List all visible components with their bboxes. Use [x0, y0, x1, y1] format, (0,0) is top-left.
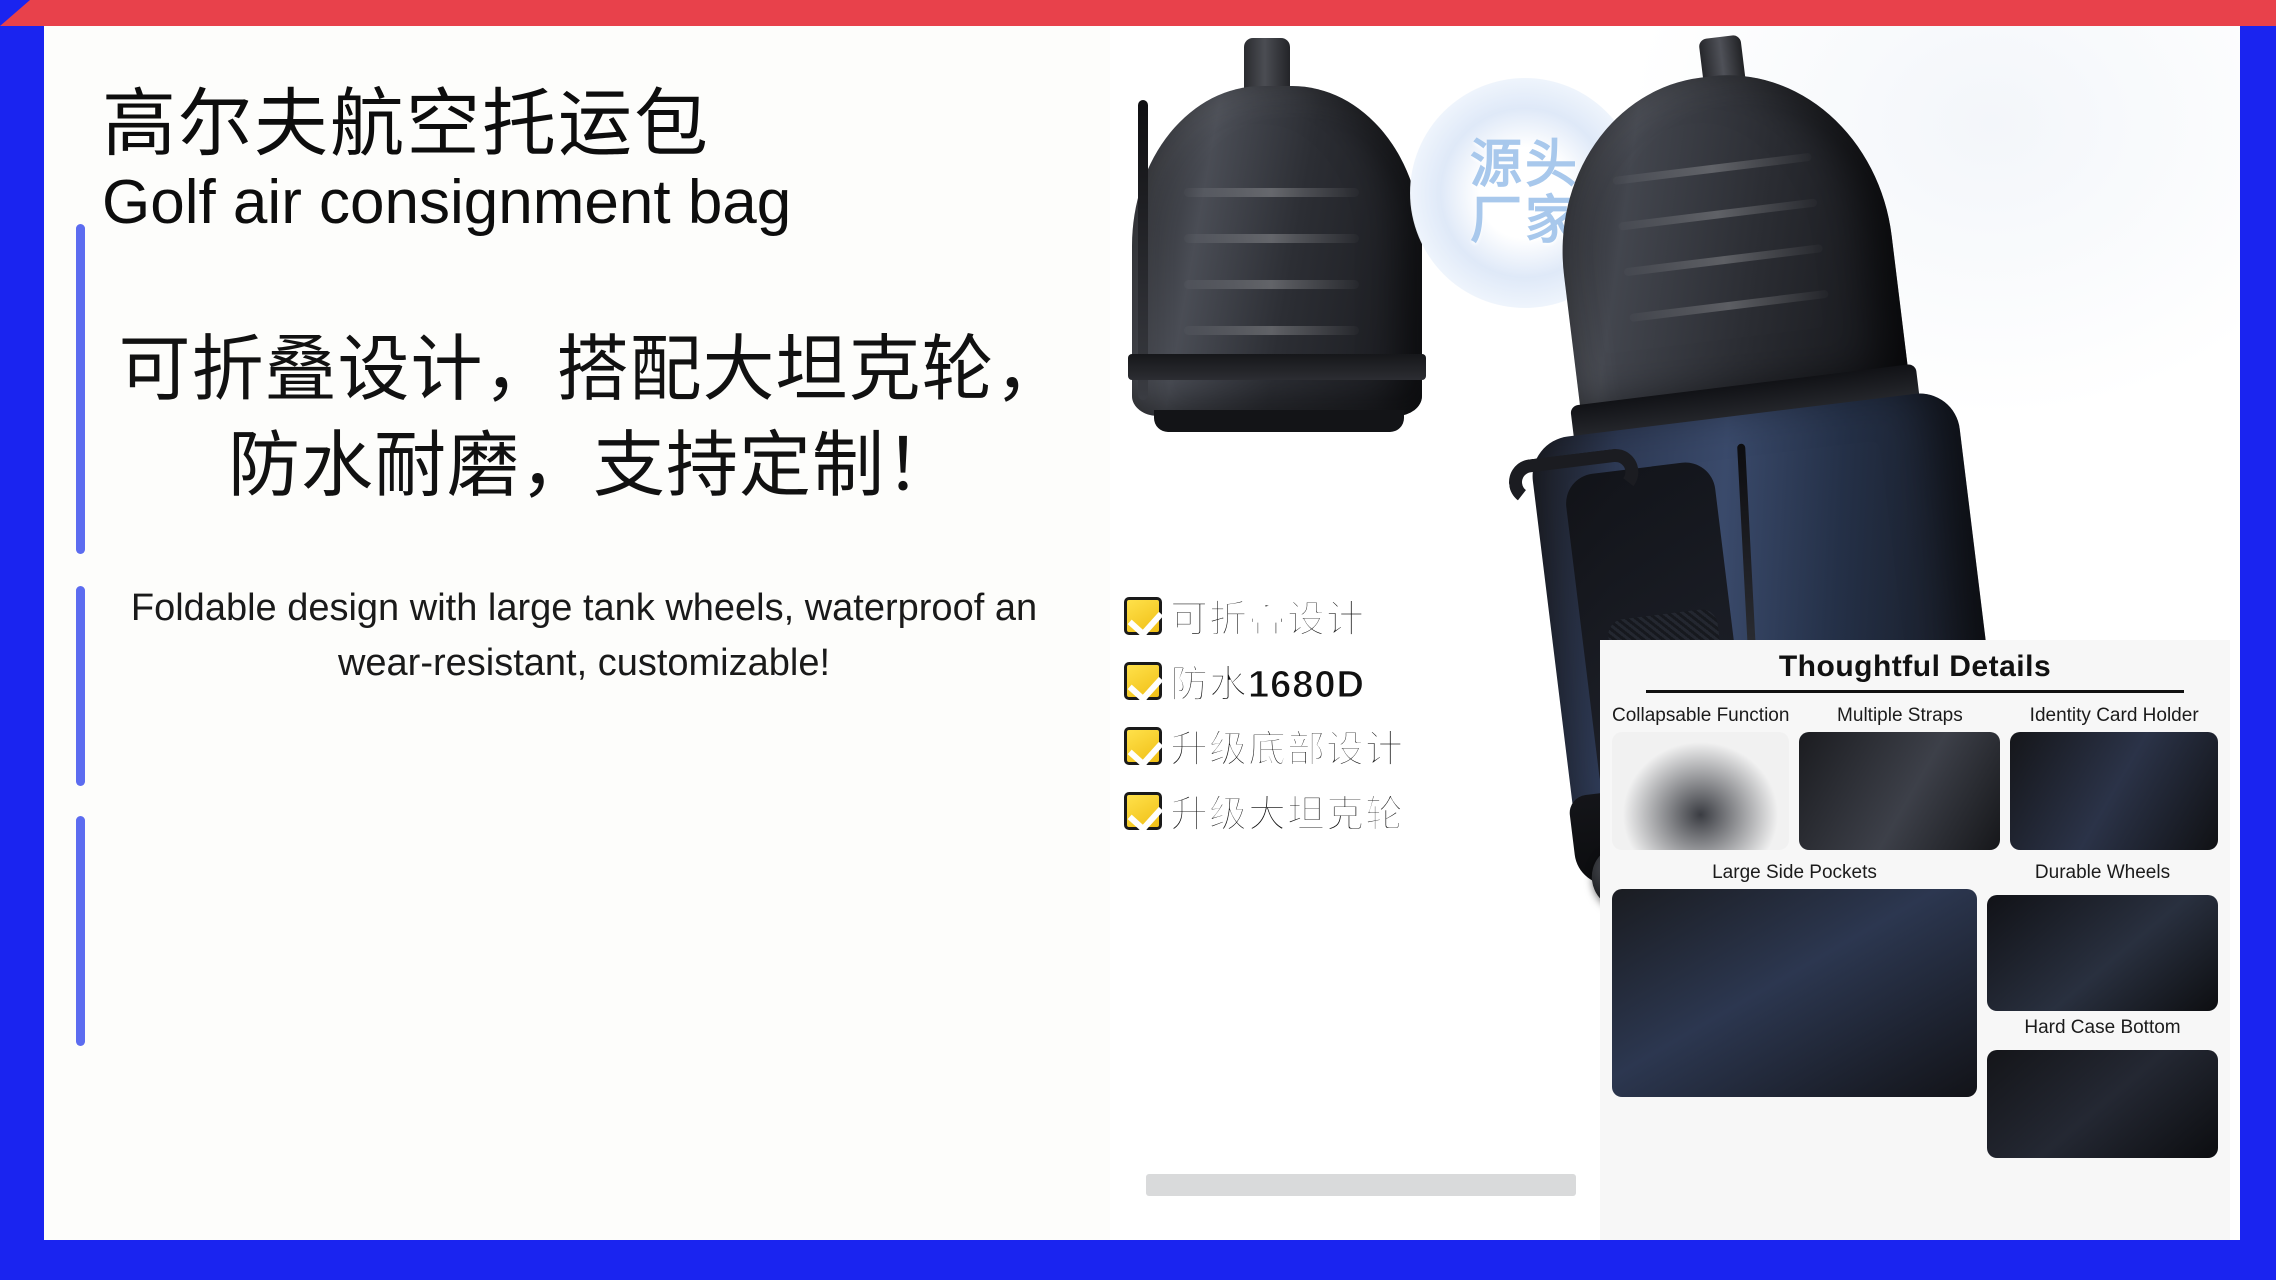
- detail-thumbnail: [1612, 889, 1977, 1097]
- checkbox-checked-icon: [1124, 727, 1162, 765]
- detail-label: Large Side Pockets: [1612, 862, 1977, 884]
- detail-cell-pockets: Large Side Pockets: [1612, 862, 1977, 1158]
- subcopy-block: Foldable design with large tank wheels, …: [104, 581, 1064, 692]
- checklist-item-label: 升级底部设计: [1170, 718, 1404, 773]
- details-card-title: Thoughtful Details: [1612, 650, 2218, 684]
- checkbox-checked-icon: [1124, 662, 1162, 700]
- checklist-item: 升级底部设计: [1124, 718, 1404, 773]
- case-rib: [1184, 326, 1359, 335]
- headline-block: 可折叠设计，搭配大坦克轮， 防水耐磨，支持定制！: [88, 322, 1098, 515]
- detail-thumbnail: [1799, 732, 2000, 850]
- product-banner: 高尔夫航空托运包 Golf air consignment bag 可折叠设计，…: [0, 0, 2276, 1280]
- detail-label: Multiple Straps: [1799, 705, 2000, 727]
- checkbox-checked-icon: [1124, 792, 1162, 830]
- red-top-band: [120, 0, 2276, 26]
- feature-checklist: 可折叠设计 防水1680D 升级底部设计 升级大坦克轮: [1124, 588, 1404, 848]
- detail-label: Identity Card Holder: [2010, 705, 2218, 727]
- headline-line-1: 可折叠设计，搭配大坦克轮，: [88, 322, 1098, 418]
- checklist-item: 升级大坦克轮: [1124, 783, 1404, 838]
- case-foot: [1154, 410, 1404, 432]
- checklist-item-label: 升级大坦克轮: [1170, 783, 1404, 838]
- checklist-item: 防水1680D: [1124, 653, 1404, 708]
- right-product-column: 源头 厂家: [1110, 26, 2240, 1240]
- subcopy-line-1: Foldable design with large tank wheels, …: [104, 581, 1064, 636]
- accent-rail-top: [76, 224, 85, 554]
- left-text-column: 高尔夫航空托运包 Golf air consignment bag 可折叠设计，…: [44, 26, 1224, 1240]
- checklist-item: 可折叠设计: [1124, 588, 1404, 643]
- details-divider: [1646, 690, 2184, 693]
- display-shelf: [1146, 1174, 1576, 1196]
- detail-cell-idcard: Identity Card Holder: [2010, 705, 2218, 850]
- case-rib: [1184, 280, 1359, 289]
- detail-cell-wheels-bottom: Durable Wheels Hard Case Bottom: [1987, 862, 2218, 1158]
- checklist-item-label: 可折叠设计: [1170, 588, 1365, 643]
- detail-label: Durable Wheels: [1987, 862, 2218, 884]
- thoughtful-details-card: Thoughtful Details Collapsable Function …: [1600, 640, 2230, 1240]
- checkbox-checked-icon: [1124, 597, 1162, 635]
- detail-label: Collapsable Function: [1612, 705, 1789, 727]
- details-top-row: Collapsable Function Multiple Straps Ide…: [1612, 705, 2218, 850]
- detail-thumbnail: [1612, 732, 1789, 850]
- case-strap: [1128, 354, 1426, 380]
- detail-thumbnail: [1987, 895, 2218, 1011]
- detail-thumbnail: [1987, 1050, 2218, 1158]
- frame-bottom-border: [0, 1240, 2276, 1280]
- checklist-item-label: 防水1680D: [1170, 653, 1365, 708]
- details-bottom-row: Large Side Pockets Durable Wheels Hard C…: [1612, 862, 2218, 1158]
- case-rib: [1184, 234, 1359, 243]
- headline-line-2: 防水耐磨，支持定制！: [88, 418, 1098, 514]
- subcopy-line-2: wear-resistant, customizable!: [104, 636, 1064, 691]
- frame-right-border: [2240, 0, 2276, 1280]
- page-title-cn: 高尔夫航空托运包: [102, 84, 791, 164]
- title-block: 高尔夫航空托运包 Golf air consignment bag: [102, 84, 791, 237]
- bag-hard-hood: [1542, 57, 1910, 425]
- detail-label: Hard Case Bottom: [1987, 1017, 2218, 1039]
- banner-canvas: 高尔夫航空托运包 Golf air consignment bag 可折叠设计，…: [44, 26, 2240, 1240]
- frame-left-border: [0, 0, 44, 1280]
- detail-cell-collapsable: Collapsable Function: [1612, 705, 1789, 850]
- page-title-en: Golf air consignment bag: [102, 168, 791, 237]
- accent-rail-middle: [76, 586, 85, 786]
- detail-thumbnail: [2010, 732, 2218, 850]
- case-rib: [1184, 188, 1359, 197]
- accent-rail-bottom: [76, 816, 85, 1046]
- detail-cell-straps: Multiple Straps: [1799, 705, 2000, 850]
